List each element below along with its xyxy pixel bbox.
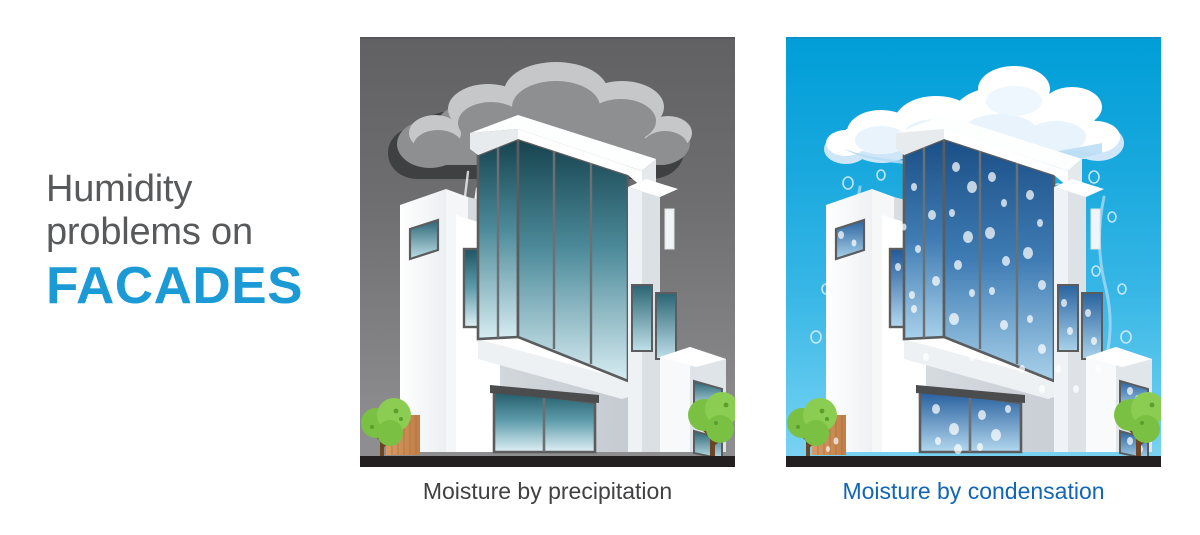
ground-strip (786, 456, 1161, 467)
condensation-illustration (786, 37, 1161, 467)
title-line-1: Humidity (46, 168, 346, 211)
ground-strip (360, 456, 735, 467)
title-line-2: problems on (46, 211, 346, 254)
title-line-3-accent: FACADES (46, 258, 352, 314)
panel-precipitation (360, 37, 735, 467)
page-title: Humidity problems on FACADES (46, 168, 346, 314)
panel-condensation (786, 37, 1161, 467)
infographic-canvas: Humidity problems on FACADES (0, 0, 1200, 535)
caption-condensation: Moisture by condensation (786, 478, 1161, 504)
precipitation-illustration (360, 37, 735, 467)
caption-precipitation: Moisture by precipitation (360, 478, 735, 504)
